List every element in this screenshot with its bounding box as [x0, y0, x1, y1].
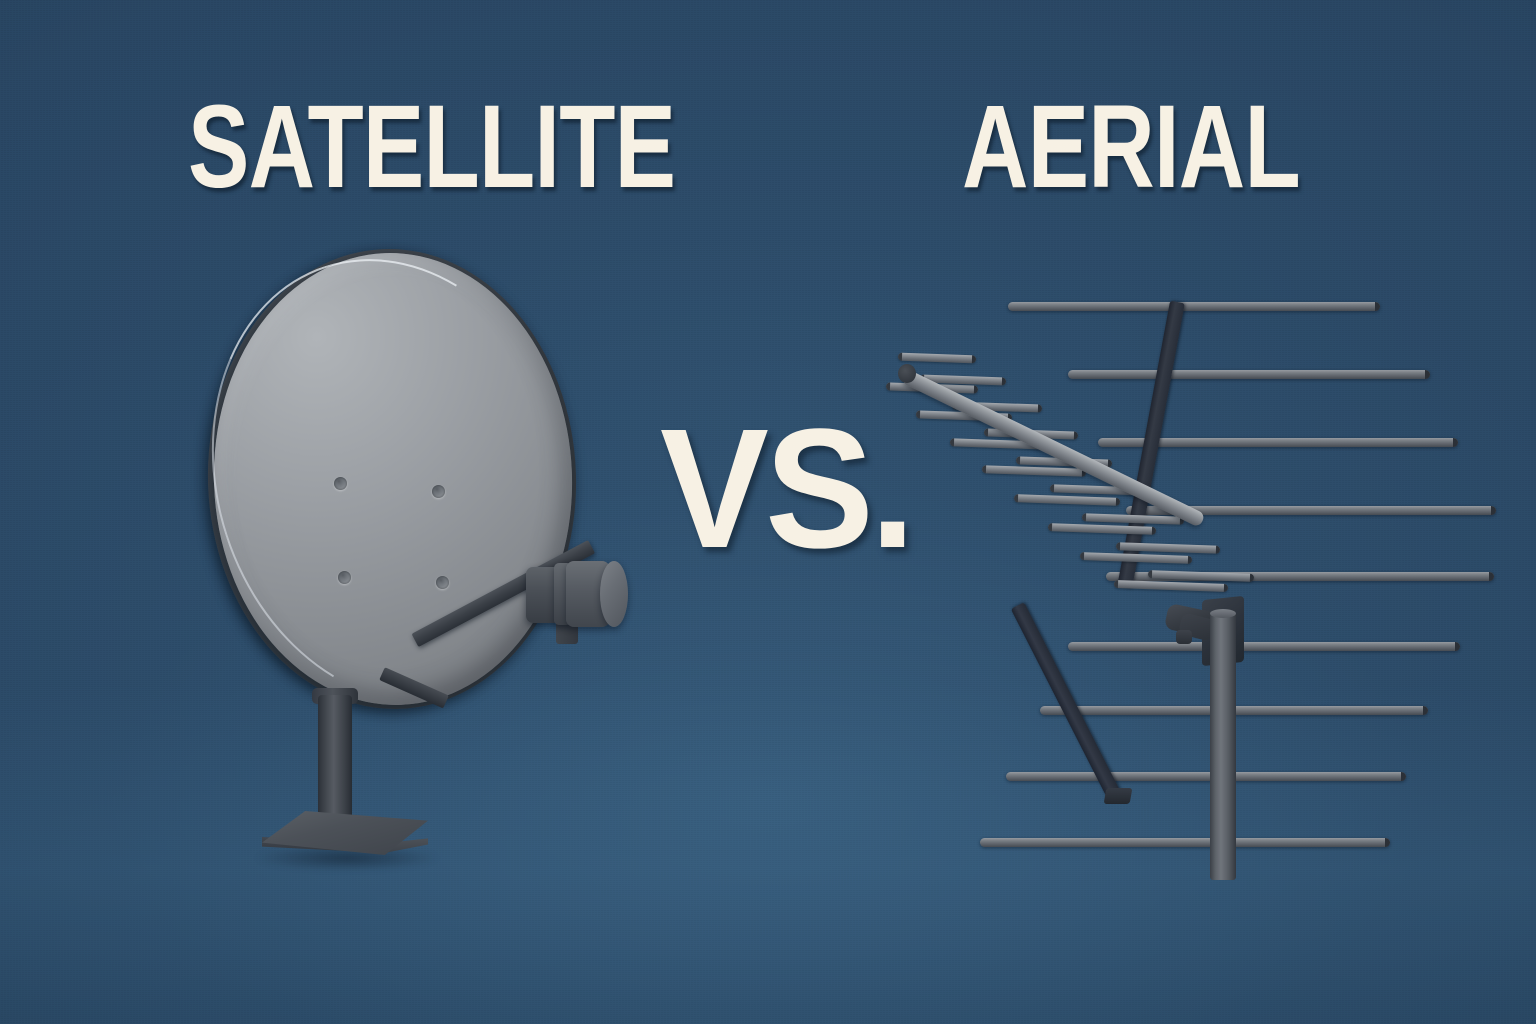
- page-title-satellite: SATELLITE: [188, 88, 675, 206]
- page-title-aerial: AERIAL: [962, 88, 1300, 206]
- director-element: [1014, 494, 1120, 506]
- reflector-rod: [1068, 642, 1460, 651]
- reflector-rod: [1006, 772, 1406, 781]
- feed-connector-nub: [1176, 630, 1192, 644]
- dish-bolt-icon: [432, 485, 445, 498]
- director-element: [898, 353, 976, 364]
- lnb-feedhorn-cap: [600, 561, 628, 627]
- dish-bolt-icon: [436, 576, 449, 589]
- director-element: [1114, 580, 1228, 592]
- boom-end-cap: [898, 364, 916, 383]
- antenna-mast-cap: [1210, 609, 1236, 618]
- director-element: [982, 465, 1086, 477]
- poster-canvas: SATELLITE AERIAL VS.: [0, 0, 1536, 1024]
- satellite-dish-illustration: [200, 245, 670, 875]
- antenna-mast: [1210, 612, 1236, 880]
- versus-label: VS.: [660, 404, 912, 574]
- aerial-antenna-illustration: [880, 260, 1400, 880]
- dish-bolt-icon: [334, 477, 347, 490]
- reflector-rod: [980, 838, 1390, 847]
- dish-bolt-icon: [338, 571, 351, 584]
- reflector-spine-cap: [1104, 788, 1133, 804]
- reflector-rod: [1008, 302, 1380, 311]
- reflector-rod: [1068, 370, 1430, 379]
